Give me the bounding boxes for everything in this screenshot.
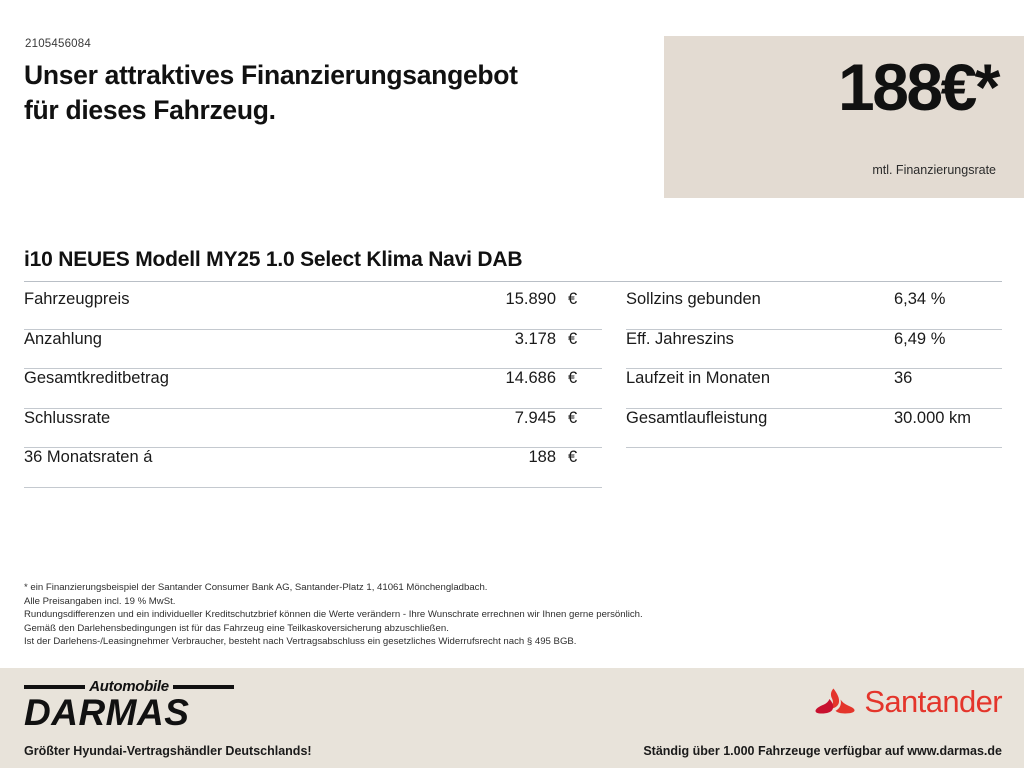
monthly-rate-badge: 188€* mtl. Finanzierungsrate xyxy=(664,36,1024,198)
row-label: 36 Monatsraten á xyxy=(24,448,436,467)
footer: Automobile DARMAS Santander Größter Hyun… xyxy=(0,668,1024,768)
footer-tagline: Größter Hyundai-Vertragshändler Deutschl… xyxy=(24,744,312,758)
row-value: 7.945 xyxy=(436,409,556,428)
fineprint-line-3: Rundungsdifferenzen und ein individuelle… xyxy=(24,608,984,622)
finance-column-left: Fahrzeugpreis 15.890 € Anzahlung 3.178 €… xyxy=(24,290,602,488)
logo-bar-right-icon xyxy=(173,685,234,689)
fineprint-line-4: Gemäß den Darlehensbedingungen ist für d… xyxy=(24,622,984,636)
table-row: Eff. Jahreszins 6,49 % xyxy=(626,330,1002,370)
row-label: Eff. Jahreszins xyxy=(626,330,894,349)
santander-flame-icon xyxy=(815,687,855,717)
table-row: Gesamtlaufleistung 30.000 km xyxy=(626,409,1002,449)
table-row-spacer xyxy=(626,448,1002,488)
row-value: 15.890 xyxy=(436,290,556,309)
table-row: Anzahlung 3.178 € xyxy=(24,330,602,370)
page-title: Unser attraktives Finanzierungsangebot f… xyxy=(24,58,664,128)
financing-offer-page: 2105456084 Unser attraktives Finanzierun… xyxy=(0,0,1024,768)
row-value: 6,49 % xyxy=(894,330,1002,349)
row-value: 30.000 km xyxy=(894,409,1002,428)
bank-logo: Santander xyxy=(815,686,1002,717)
offer-id: 2105456084 xyxy=(25,38,91,50)
row-unit: € xyxy=(556,409,602,428)
table-row: Schlussrate 7.945 € xyxy=(24,409,602,449)
table-row: Fahrzeugpreis 15.890 € xyxy=(24,290,602,330)
row-value: 188 xyxy=(436,448,556,467)
logo-bar-left-icon xyxy=(24,685,85,689)
dealer-logo-main-word: DARMAS xyxy=(24,694,234,732)
table-row: Gesamtkreditbetrag 14.686 € xyxy=(24,369,602,409)
finance-column-right: Sollzins gebunden 6,34 % Eff. Jahreszins… xyxy=(602,290,1002,488)
monthly-rate-caption: mtl. Finanzierungsrate xyxy=(872,163,996,177)
footer-note: Ständig über 1.000 Fahrzeuge verfügbar a… xyxy=(643,744,1002,758)
row-label: Gesamtkreditbetrag xyxy=(24,369,436,388)
row-label: Fahrzeugpreis xyxy=(24,290,436,309)
finance-details-table: Fahrzeugpreis 15.890 € Anzahlung 3.178 €… xyxy=(24,290,1002,488)
legal-fineprint: * ein Finanzierungsbeispiel der Santande… xyxy=(24,581,984,649)
vehicle-title: i10 NEUES Modell MY25 1.0 Select Klima N… xyxy=(24,248,1002,282)
table-row: Sollzins gebunden 6,34 % xyxy=(626,290,1002,330)
fineprint-line-2: Alle Preisangaben incl. 19 % MwSt. xyxy=(24,595,984,609)
row-label: Laufzeit in Monaten xyxy=(626,369,894,388)
row-unit: € xyxy=(556,330,602,349)
header: 2105456084 Unser attraktives Finanzierun… xyxy=(0,0,1024,215)
row-value: 6,34 % xyxy=(894,290,1002,309)
row-label: Schlussrate xyxy=(24,409,436,428)
table-row: Laufzeit in Monaten 36 xyxy=(626,369,1002,409)
row-unit: € xyxy=(556,290,602,309)
bank-logo-word: Santander xyxy=(864,686,1002,717)
table-row: 36 Monatsraten á 188 € xyxy=(24,448,602,488)
dealer-logo: Automobile DARMAS xyxy=(24,678,234,730)
row-value: 36 xyxy=(894,369,1002,388)
monthly-rate-amount: 188€* xyxy=(838,54,998,120)
row-value: 3.178 xyxy=(436,330,556,349)
row-label: Sollzins gebunden xyxy=(626,290,894,309)
row-unit: € xyxy=(556,448,602,467)
fineprint-line-1: * ein Finanzierungsbeispiel der Santande… xyxy=(24,581,984,595)
row-label: Anzahlung xyxy=(24,330,436,349)
row-label: Gesamtlaufleistung xyxy=(626,409,894,428)
row-unit: € xyxy=(556,369,602,388)
headline-line-2: für dieses Fahrzeug. xyxy=(24,93,664,128)
headline-line-1: Unser attraktives Finanzierungsangebot xyxy=(24,60,518,90)
row-value: 14.686 xyxy=(436,369,556,388)
fineprint-line-5: Ist der Darlehens-/Leasingnehmer Verbrau… xyxy=(24,635,984,649)
